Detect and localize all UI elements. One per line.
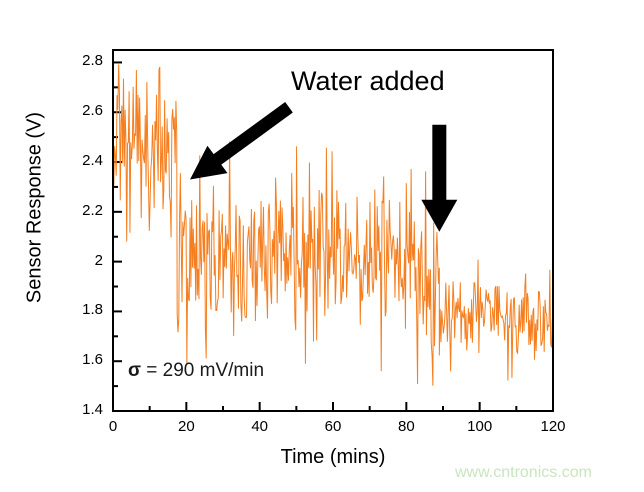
site-watermark: www.cntronics.com — [455, 464, 592, 482]
y-tick-label: 2.8 — [63, 52, 103, 69]
x-tick-label: 120 — [533, 418, 573, 435]
y-tick-label: 2.2 — [63, 202, 103, 219]
y-tick-label: 1.4 — [63, 401, 103, 418]
y-axis-title: Sensor Response (V) — [24, 98, 47, 318]
sigma-annotation: σ = 290 mV/min — [128, 360, 264, 382]
sigma-symbol: σ — [128, 360, 141, 381]
x-axis-title: Time (mins) — [233, 446, 433, 469]
x-tick-label: 40 — [240, 418, 280, 435]
y-tick-label: 1.6 — [63, 351, 103, 368]
x-tick-label: 0 — [93, 418, 133, 435]
x-tick-label: 100 — [460, 418, 500, 435]
y-tick-label: 2 — [63, 252, 103, 269]
y-tick-label: 1.8 — [63, 301, 103, 318]
y-tick-label: 2.6 — [63, 102, 103, 119]
sigma-value: = 290 mV/min — [141, 360, 264, 381]
y-tick-label: 2.4 — [63, 152, 103, 169]
x-tick-label: 20 — [166, 418, 206, 435]
x-tick-label: 80 — [386, 418, 426, 435]
water-added-annotation: Water added — [291, 66, 445, 97]
x-tick-label: 60 — [313, 418, 353, 435]
